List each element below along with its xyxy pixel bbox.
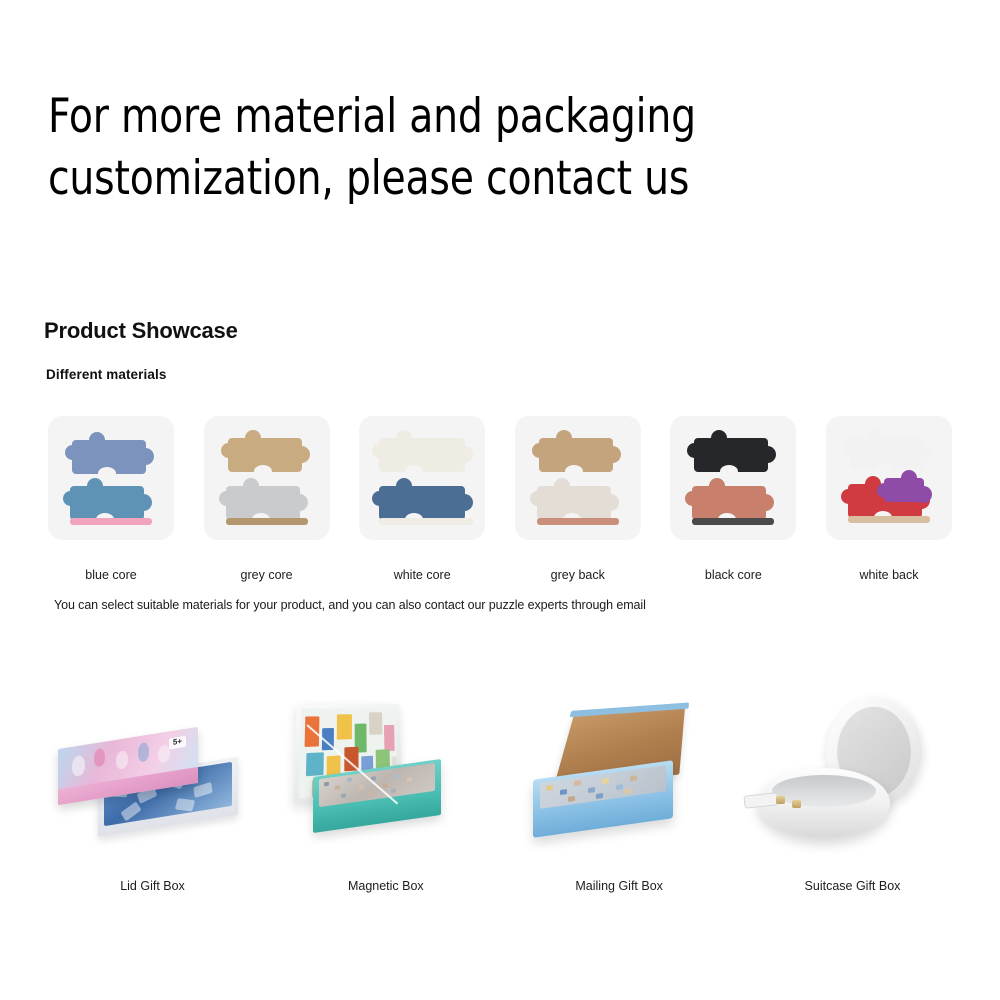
page-title: Product Showcase (44, 318, 238, 344)
material-thumbnail-white-back[interactable] (826, 416, 952, 540)
material-item-grey-back[interactable]: grey back (511, 416, 645, 582)
puzzle-piece-icon (515, 416, 641, 540)
material-label: grey core (241, 568, 293, 582)
material-item-white-back[interactable]: white back (822, 416, 956, 582)
material-thumbnail-grey-back[interactable] (515, 416, 641, 540)
material-item-white-core[interactable]: white core (355, 416, 489, 582)
puzzle-piece-icon (670, 416, 796, 540)
packaging-row: 5+ Lid Gift Box (40, 690, 965, 893)
material-label: grey back (551, 568, 605, 582)
product-showcase-page: For more material and packaging customiz… (0, 0, 1000, 1000)
material-label: white back (859, 568, 918, 582)
material-thumbnail-white-core[interactable] (359, 416, 485, 540)
package-thumbnail-suitcase-gift-box[interactable] (740, 690, 965, 865)
package-label: Suitcase Gift Box (805, 879, 901, 893)
package-thumbnail-mailing-gift-box[interactable] (507, 690, 732, 865)
package-thumbnail-magnetic-box[interactable] (273, 690, 498, 865)
material-item-blue-core[interactable]: blue core (44, 416, 178, 582)
package-label: Mailing Gift Box (575, 879, 663, 893)
material-thumbnail-blue-core[interactable] (48, 416, 174, 540)
package-item-lid-gift-box[interactable]: 5+ Lid Gift Box (40, 690, 265, 893)
case-base-interior (772, 775, 876, 807)
package-item-mailing-gift-box[interactable]: Mailing Gift Box (507, 690, 732, 893)
case-clasp-right (792, 800, 801, 808)
package-label: Lid Gift Box (120, 879, 185, 893)
material-thumbnail-grey-core[interactable] (204, 416, 330, 540)
package-thumbnail-lid-gift-box[interactable]: 5+ (40, 690, 265, 865)
material-label: blue core (85, 568, 136, 582)
box-base (533, 760, 673, 838)
box-lid-edge (569, 702, 689, 717)
material-item-black-core[interactable]: black core (666, 416, 800, 582)
puzzle-piece-icon (826, 416, 952, 540)
material-label: white core (394, 568, 451, 582)
hero-heading-line-1: For more material and packaging (48, 86, 755, 148)
package-label: Magnetic Box (348, 879, 424, 893)
package-item-magnetic-box[interactable]: Magnetic Box (273, 690, 498, 893)
material-label: black core (705, 568, 762, 582)
material-thumbnail-black-core[interactable] (670, 416, 796, 540)
hero-heading-line-2: customization, please contact us (48, 148, 755, 210)
materials-subsection-title: Different materials (46, 367, 166, 382)
case-clasp-left (776, 796, 785, 804)
material-item-grey-core[interactable]: grey core (200, 416, 334, 582)
hero-heading: For more material and packaging customiz… (48, 86, 808, 210)
puzzle-piece-icon (359, 416, 485, 540)
materials-row: blue core grey core (44, 416, 956, 582)
puzzle-piece-icon (204, 416, 330, 540)
materials-caption: You can select suitable materials for yo… (54, 598, 646, 612)
puzzle-piece-icon (48, 416, 174, 540)
package-item-suitcase-gift-box[interactable]: Suitcase Gift Box (740, 690, 965, 893)
